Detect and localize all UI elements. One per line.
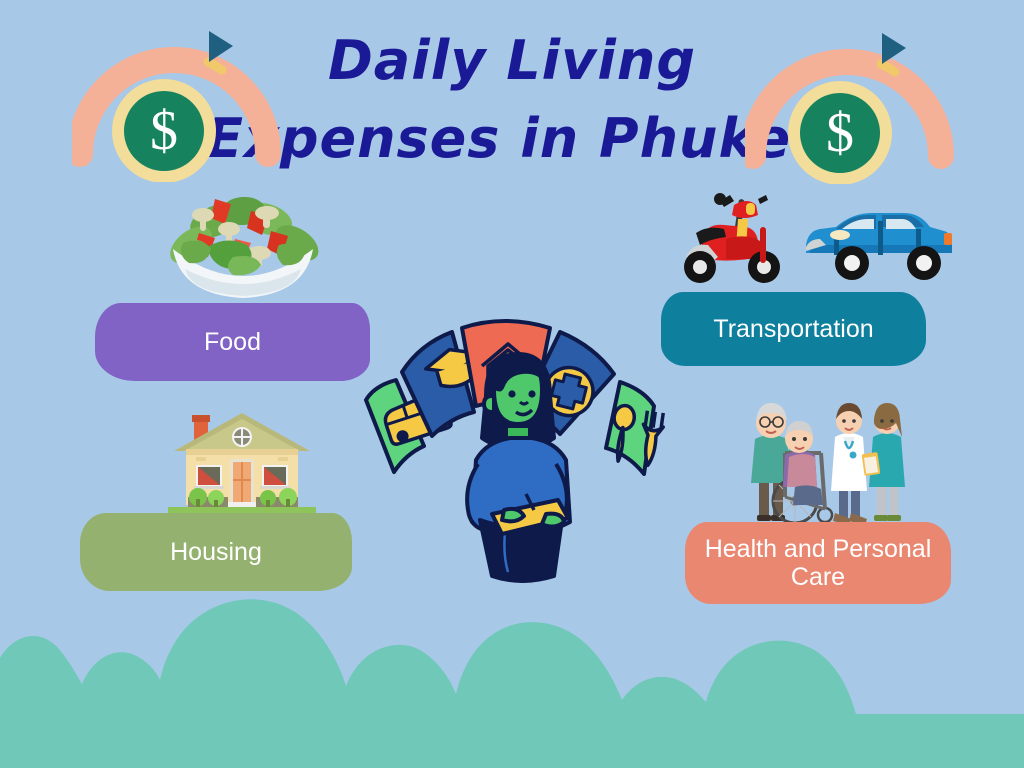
- suv-icon: [806, 213, 952, 280]
- title-line-1: Daily Living: [328, 29, 696, 92]
- category-label-health-line-2: Care: [791, 563, 845, 591]
- category-label-housing[interactable]: Housing: [80, 513, 352, 591]
- category-label-health-text: Health and Personal Care: [705, 535, 932, 591]
- fan-panel-food: [606, 382, 665, 474]
- salad-bowl-illustration: [155, 183, 330, 308]
- coin-badge-right: $: [745, 24, 955, 184]
- infographic-canvas: Daily Living Expenses in Phuket $ $: [0, 0, 1024, 768]
- category-label-housing-text: Housing: [170, 538, 262, 566]
- category-label-food-text: Food: [204, 328, 261, 356]
- doctor: [831, 403, 867, 525]
- nurse: [862, 403, 905, 521]
- coin-badge-left: $: [72, 22, 282, 182]
- category-label-health[interactable]: Health and Personal Care: [685, 522, 951, 604]
- triangle-marker-icon: [209, 31, 233, 62]
- category-label-food[interactable]: Food: [95, 303, 370, 381]
- category-label-health-line-1: Health and Personal: [705, 535, 932, 563]
- dollar-sign-icon: $: [150, 100, 178, 162]
- dollar-sign-icon: $: [826, 102, 854, 164]
- scooter-icon: [684, 193, 780, 283]
- category-label-transportation[interactable]: Transportation: [661, 292, 926, 366]
- house-illustration: [168, 403, 316, 518]
- elderly-care-group-illustration: [737, 393, 912, 528]
- triangle-marker-icon: [882, 33, 906, 64]
- category-label-transportation-text: Transportation: [713, 315, 873, 343]
- background-hills: [0, 588, 1024, 768]
- woman-with-clipboard-and-category-fan: [358, 308, 678, 583]
- scooter-and-car-illustration: [672, 183, 952, 288]
